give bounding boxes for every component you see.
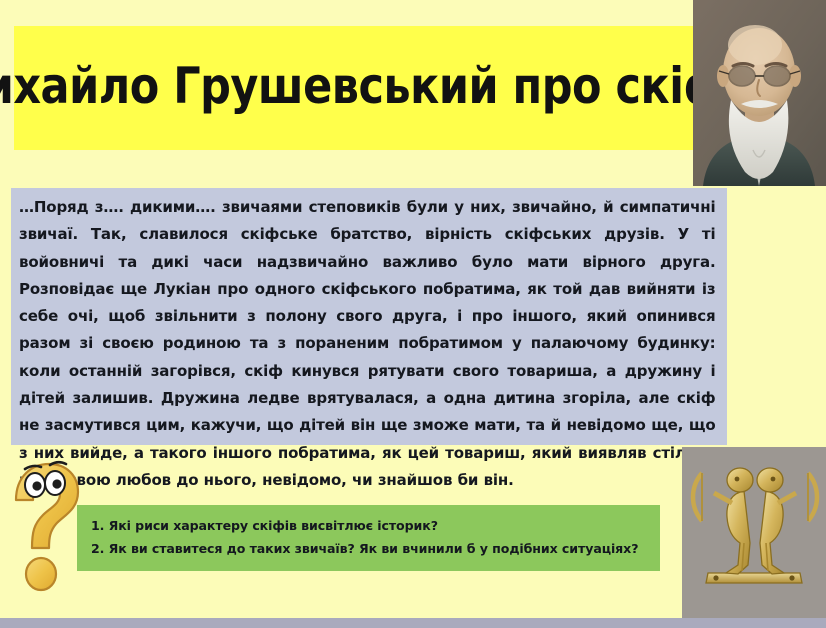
scythian-gold-archers-plaque xyxy=(682,447,826,618)
quote-text: …Поряд з…. дикими…. звичаями степовиків … xyxy=(19,194,716,494)
question-item-1: 1. Які риси характеру скіфів висвітлює і… xyxy=(91,514,660,537)
slide-canvas: Михайло Грушевський про скіфів xyxy=(0,0,826,628)
question-item-2: 2. Як ви ставитеся до таких звичаїв? Як … xyxy=(91,537,660,560)
page-title: Михайло Грушевський про скіфів xyxy=(0,62,767,114)
title-banner: Михайло Грушевський про скіфів xyxy=(14,26,694,150)
question-mark-character-icon xyxy=(5,452,87,604)
portrait-hrushevsky-photo xyxy=(693,0,826,186)
quote-block: …Поряд з…. дикими…. звичаями степовиків … xyxy=(11,188,727,445)
questions-box: 1. Які риси характеру скіфів висвітлює і… xyxy=(77,505,660,571)
bottom-gray-strip xyxy=(0,618,826,628)
